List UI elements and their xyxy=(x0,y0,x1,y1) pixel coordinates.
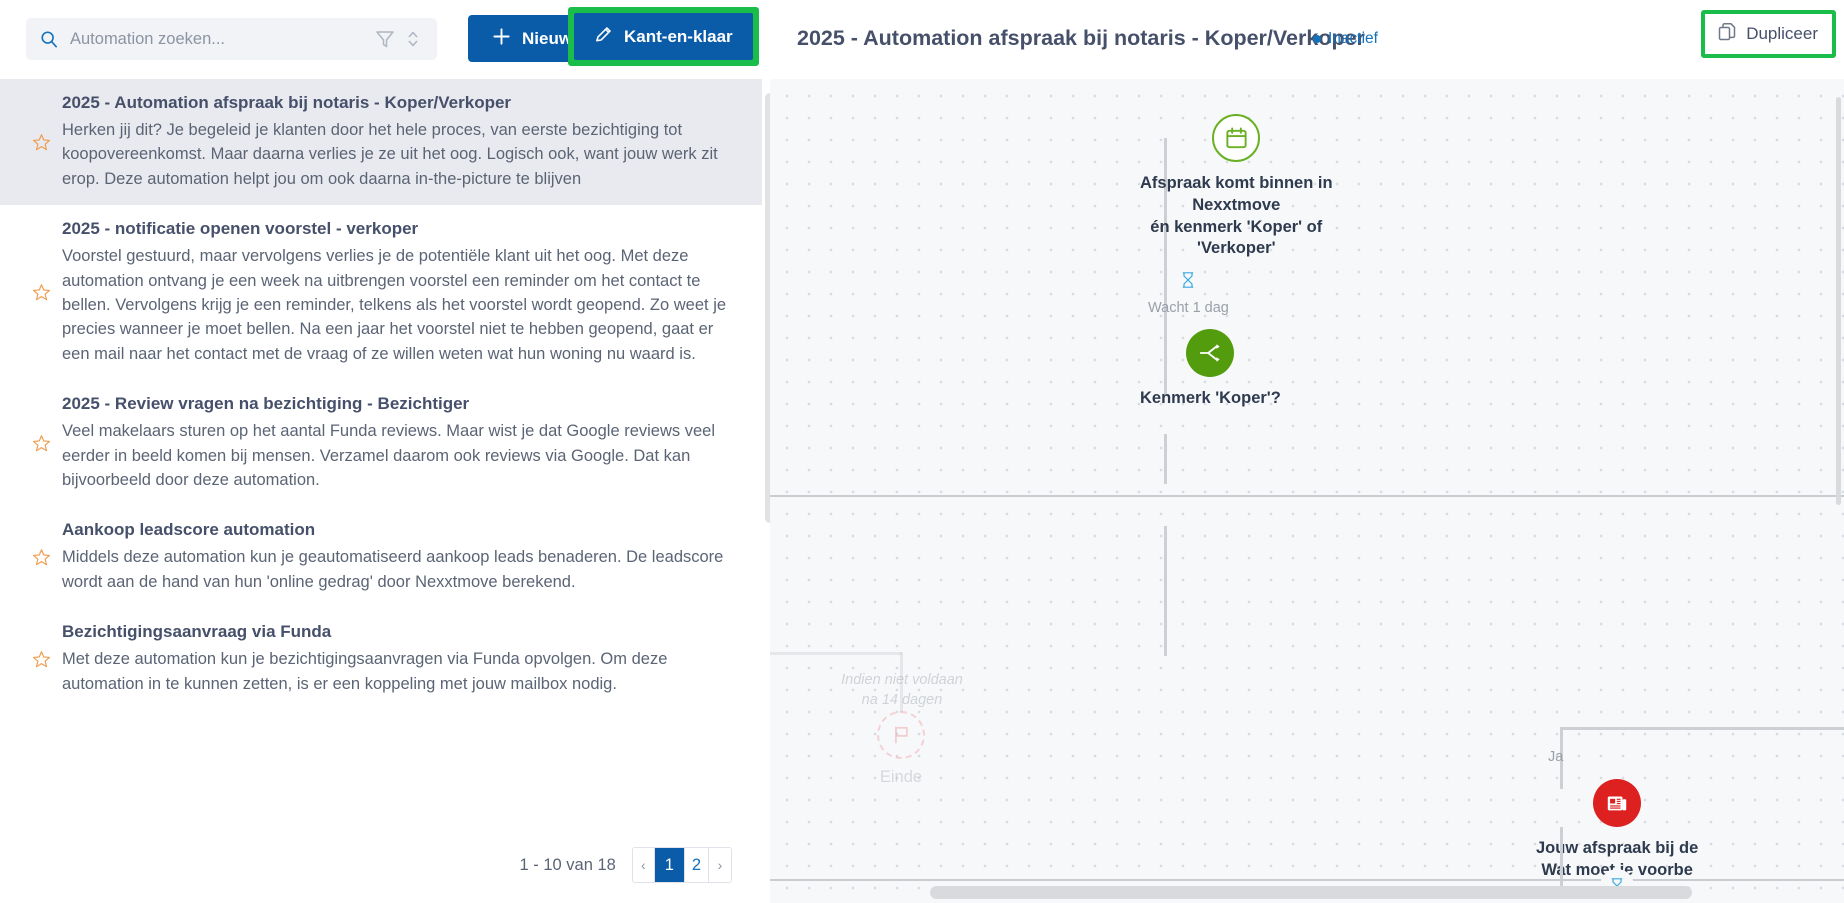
list-item-body: Aankoop leadscore automation Middels dez… xyxy=(62,520,732,594)
list-item-description: Met deze automation kun je bezichtigings… xyxy=(62,647,732,696)
page-title: 2025 - Automation afspraak bij notaris -… xyxy=(797,26,1365,51)
canvas-divider-line xyxy=(770,495,1844,497)
split-branch-icon xyxy=(1198,341,1222,365)
favorite-star-button[interactable] xyxy=(20,650,62,669)
list-item-title: Bezichtigingsaanvraag via Funda xyxy=(62,622,732,642)
list-item[interactable]: 2025 - notificatie openen voorstel - ver… xyxy=(0,205,762,380)
search-bar[interactable] xyxy=(26,18,437,60)
status-badge: Inactief xyxy=(1313,30,1378,48)
star-icon xyxy=(32,133,51,152)
pagination-info: 1 - 10 van 18 xyxy=(519,856,615,875)
edge-label-not-met-line: Indien niet voldaan xyxy=(838,671,966,691)
duplicate-button[interactable]: Dupliceer xyxy=(1705,14,1832,54)
filter-icon[interactable] xyxy=(375,29,395,49)
pagination-buttons: ‹ 1 2 › xyxy=(632,847,732,883)
list-item[interactable]: Bezichtigingsaanvraag via Funda Met deze… xyxy=(0,608,762,710)
duplicate-button-highlight: Dupliceer xyxy=(1701,10,1836,58)
favorite-star-button[interactable] xyxy=(20,434,62,453)
start-node-label-line: Nexxtmove xyxy=(1140,195,1333,217)
start-node-label: Afspraak komt binnen in Nexxtmove én ken… xyxy=(1140,173,1333,260)
favorite-star-button[interactable] xyxy=(20,283,62,302)
canvas-vertical-scrollbar-thumb[interactable] xyxy=(1836,97,1841,505)
star-icon xyxy=(32,283,51,302)
list-item-title: Aankoop leadscore automation xyxy=(62,520,732,540)
flow-node-end[interactable]: Einde xyxy=(877,711,925,787)
wait-chip xyxy=(1171,263,1205,297)
list-item[interactable]: 2025 - Review vragen na bezichtiging - B… xyxy=(0,380,762,506)
connector-end-horizontal xyxy=(770,652,902,655)
pagination-page-1[interactable]: 1 xyxy=(655,848,685,882)
flag-icon xyxy=(890,724,912,746)
end-node-label: Einde xyxy=(880,768,922,787)
sort-icon[interactable] xyxy=(403,29,423,49)
split-node-label: Kenmerk 'Koper'? xyxy=(1140,388,1281,410)
search-input[interactable] xyxy=(70,30,367,49)
pagination-next-button[interactable]: › xyxy=(709,848,731,882)
edge-label-not-met-line: na 14 dagen xyxy=(838,691,966,711)
end-node-circle xyxy=(877,711,925,759)
status-label: Inactief xyxy=(1328,30,1378,48)
list-item-body: Bezichtigingsaanvraag via Funda Met deze… xyxy=(62,622,732,696)
favorite-star-button[interactable] xyxy=(20,548,62,567)
list-item-title: 2025 - notificatie openen voorstel - ver… xyxy=(62,219,732,239)
status-dot-icon xyxy=(1313,35,1321,43)
search-icon xyxy=(40,30,58,48)
duplicate-button-label: Dupliceer xyxy=(1746,24,1818,44)
newsletter-icon xyxy=(1605,791,1629,815)
start-node-label-line: 'Verkoper' xyxy=(1140,238,1333,260)
edge-label-yes: Ja xyxy=(1548,748,1563,768)
split-node-circle xyxy=(1186,329,1234,377)
start-node-label-line: én kenmerk 'Koper' of xyxy=(1140,217,1333,239)
pencil-icon xyxy=(594,25,613,49)
wait-node-label: Wacht 1 dag xyxy=(1148,300,1229,316)
pagination-prev-button[interactable]: ‹ xyxy=(633,848,655,882)
ready-made-button-label: Kant-en-klaar xyxy=(624,27,733,47)
top-toolbar: Nieuw Kant-en-klaar 2025 - Automation af… xyxy=(0,0,1844,79)
automation-list-panel: 2025 - Automation afspraak bij notaris -… xyxy=(0,79,762,903)
list-item-description: Middels deze automation kun je geautomat… xyxy=(62,545,732,594)
connector-split-down xyxy=(1164,526,1167,656)
start-node-circle xyxy=(1212,114,1260,162)
ready-made-button[interactable]: Kant-en-klaar xyxy=(574,13,753,60)
star-icon xyxy=(32,548,51,567)
list-item[interactable]: Aankoop leadscore automation Middels dez… xyxy=(0,506,762,608)
list-item-body: 2025 - notificatie openen voorstel - ver… xyxy=(62,219,732,366)
hourglass-icon xyxy=(1180,271,1196,289)
calendar-icon xyxy=(1224,126,1249,151)
flow-canvas[interactable]: Afspraak komt binnen in Nexxtmove én ken… xyxy=(770,79,1844,903)
plus-icon xyxy=(492,27,511,51)
list-item-title: 2025 - Automation afspraak bij notaris -… xyxy=(62,93,732,113)
flow-node-split[interactable]: Kenmerk 'Koper'? xyxy=(1140,329,1281,410)
start-node-label-line: Afspraak komt binnen in xyxy=(1140,173,1333,195)
list-item-body: 2025 - Review vragen na bezichtiging - B… xyxy=(62,394,732,492)
mail-node-circle xyxy=(1593,779,1641,827)
connector-wait-to-split xyxy=(1164,434,1167,484)
list-item-description: Herken jij dit? Je begeleid je klanten d… xyxy=(62,118,732,191)
connector-branch-yes-horizontal xyxy=(1560,727,1844,730)
pagination: 1 - 10 van 18 ‹ 1 2 › xyxy=(519,847,732,883)
flow-wait-node-1[interactable]: Wacht 1 dag xyxy=(1148,263,1229,316)
ready-made-button-highlight: Kant-en-klaar xyxy=(568,7,759,66)
copy-icon xyxy=(1717,22,1737,47)
list-item-description: Voorstel gestuurd, maar vervolgens verli… xyxy=(62,244,732,366)
star-icon xyxy=(32,650,51,669)
flow-node-start[interactable]: Afspraak komt binnen in Nexxtmove én ken… xyxy=(1140,114,1333,260)
list-item[interactable]: 2025 - Automation afspraak bij notaris -… xyxy=(0,79,762,205)
star-icon xyxy=(32,434,51,453)
canvas-horizontal-scrollbar-thumb[interactable] xyxy=(930,886,1692,899)
edge-label-not-met: Indien niet voldaan na 14 dagen xyxy=(838,671,966,710)
pagination-page-2[interactable]: 2 xyxy=(685,848,709,882)
list-item-description: Veel makelaars sturen op het aantal Fund… xyxy=(62,419,732,492)
list-item-title: 2025 - Review vragen na bezichtiging - B… xyxy=(62,394,732,414)
new-button-label: Nieuw xyxy=(522,29,572,49)
list-item-body: 2025 - Automation afspraak bij notaris -… xyxy=(62,93,732,191)
automation-builder-page: Nieuw Kant-en-klaar 2025 - Automation af… xyxy=(0,0,1844,903)
favorite-star-button[interactable] xyxy=(20,133,62,152)
